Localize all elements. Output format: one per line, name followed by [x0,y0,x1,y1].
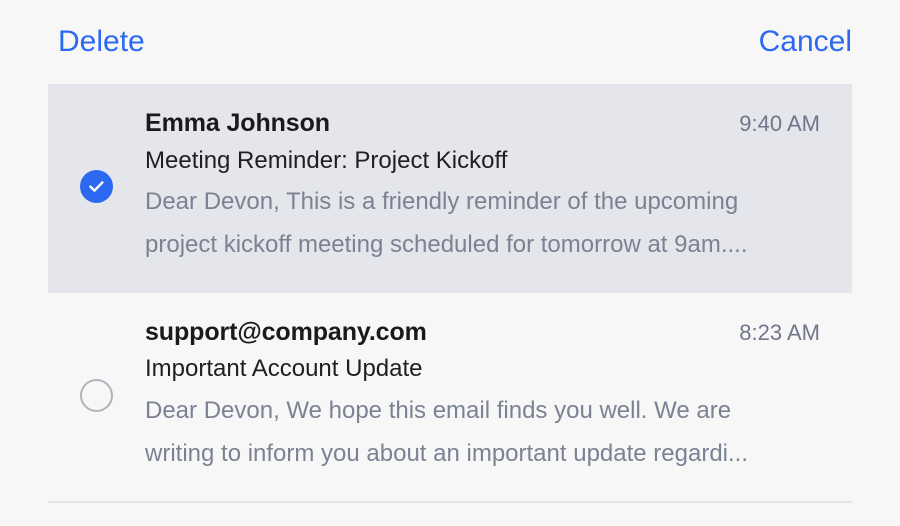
email-content: support@company.com 8:23 AM Important Ac… [145,315,852,476]
email-subject: Meeting Reminder: Project Kickoff [145,144,820,179]
email-timestamp: 8:23 AM [739,318,820,348]
email-selection-screen: Delete Cancel Emma Johnson 9:40 AM Meeti… [0,0,900,526]
email-preview: Dear Devon, We hope this email finds you… [145,390,790,475]
cancel-button[interactable]: Cancel [759,27,852,57]
email-subject: Important Account Update [145,352,820,387]
email-list-item[interactable]: Emma Johnson 9:40 AM Meeting Reminder: P… [48,84,852,293]
delete-button[interactable]: Delete [58,27,145,57]
email-list-item[interactable]: support@company.com 8:23 AM Important Ac… [48,293,852,502]
email-header-line: support@company.com 8:23 AM [145,315,820,350]
email-sender: Emma Johnson [145,106,330,141]
checkbox-cell [48,170,145,203]
circle-outline-icon[interactable] [80,379,113,412]
check-circle-filled-icon[interactable] [80,170,113,203]
toolbar: Delete Cancel [0,0,900,84]
email-timestamp: 9:40 AM [739,109,820,139]
checkbox-cell [48,379,145,412]
email-preview: Dear Devon, This is a friendly reminder … [145,181,790,266]
email-content: Emma Johnson 9:40 AM Meeting Reminder: P… [145,106,852,267]
email-list: Emma Johnson 9:40 AM Meeting Reminder: P… [0,84,900,503]
email-header-line: Emma Johnson 9:40 AM [145,106,820,141]
email-sender: support@company.com [145,315,427,350]
list-divider [48,501,852,503]
